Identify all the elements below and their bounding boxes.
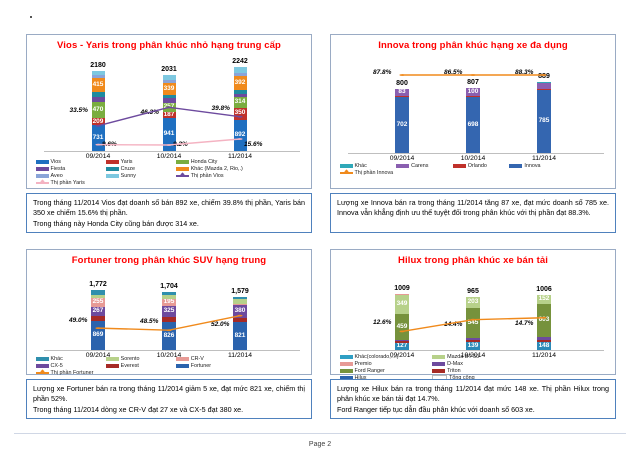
chart-plot-hilux: 127459349100909/201412.6%13954520396510/… xyxy=(331,266,615,368)
bar-segment: 83 xyxy=(395,89,409,96)
legend-label: CR-V xyxy=(191,356,204,362)
legend-color-swatch xyxy=(36,160,49,164)
bar-total-label: 2031 xyxy=(153,66,185,73)
share-percent-label-secondary: 9.6% xyxy=(102,141,117,148)
chart-title-fortuner: Fortuner trong phân khúc SUV hạng trung xyxy=(27,255,311,266)
note-hilux: Lượng xe Hilux bán ra trong tháng 11/201… xyxy=(330,379,616,419)
slide-page: Vios - Yaris trong phân khúc nhỏ hạng tr… xyxy=(0,0,640,452)
note-line: Trong tháng này Honda City cũng bán được… xyxy=(33,219,305,229)
legend-label: Vios xyxy=(51,159,61,165)
bar-segment: 339 xyxy=(163,83,176,95)
legend-line-swatch xyxy=(36,182,49,184)
legend-color-swatch xyxy=(36,357,49,361)
legend-label: Khác (Mazda 2, Rio,.) xyxy=(191,166,243,172)
legend-item[interactable]: CX-5 xyxy=(36,363,102,369)
share-percent-label: 12.6% xyxy=(373,319,391,326)
share-percent-label: 14.4% xyxy=(444,321,462,328)
bar-segment: 869 xyxy=(91,321,105,350)
bar-segment: 821 xyxy=(233,322,247,350)
chart-panel-vios-yaris: Vios - Yaris trong phân khúc nhỏ hạng tr… xyxy=(26,34,312,189)
x-axis-label: 11/2014 xyxy=(526,155,562,162)
chart-title-innova: Innova trong phân khúc hạng xe đa dụng xyxy=(331,40,615,51)
note-line: Lượng xe Hilux bán ra trong tháng 11/201… xyxy=(337,384,609,405)
legend-color-swatch xyxy=(396,164,409,168)
chart-panel-innova: Innova trong phân khúc hạng xe đa dụng 7… xyxy=(330,34,616,189)
legend-color-swatch xyxy=(106,357,119,361)
bar-segment: 545 xyxy=(466,308,480,338)
legend-item[interactable]: Sunny xyxy=(106,173,172,179)
note-line: Trong tháng 11/2014 Vios đạt doanh số bá… xyxy=(33,198,305,219)
share-percent-label: 86.5% xyxy=(444,69,462,76)
bar-total-label: 2242 xyxy=(224,58,256,65)
legend-item[interactable]: Carens xyxy=(396,163,449,169)
bar-segment: 148 xyxy=(537,342,551,350)
bar-segment: 257 xyxy=(163,103,176,112)
chart-legend: KhácCarensOrlandoInnovaThị phần Innova xyxy=(340,163,610,177)
note-line: Lượng xe Innova bán ra trong tháng 11/20… xyxy=(337,198,609,219)
legend-item[interactable]: Khác(colorado,....) xyxy=(340,354,429,360)
legend-label: Thị phần Vios xyxy=(191,173,224,179)
bar-segment: 459 xyxy=(395,314,409,339)
legend-label: Khác(colorado,....) xyxy=(355,354,399,360)
bar-segment: 100 xyxy=(466,88,480,96)
bar-segment: 702 xyxy=(395,97,409,153)
bar-total-label: 1009 xyxy=(386,285,418,292)
note-vios: Trong tháng 11/2014 Vios đạt doanh số bá… xyxy=(26,193,312,233)
bar-segment: 470 xyxy=(92,102,105,118)
chart-axis xyxy=(348,350,604,351)
legend-label: Premio xyxy=(355,361,372,367)
chart-axis xyxy=(348,153,604,154)
footer-divider xyxy=(14,433,626,434)
bar-total-label: 2180 xyxy=(82,62,114,69)
legend-color-swatch xyxy=(106,364,119,368)
legend-label: Orlando xyxy=(468,163,487,169)
bar-stack: 148603152 xyxy=(537,295,551,350)
bar-stack: 139545203 xyxy=(466,297,480,350)
bar-stack: 785 xyxy=(537,82,551,153)
bar-segment: 267 xyxy=(91,307,105,316)
bar-segment: 139 xyxy=(466,342,480,350)
bar-stack: 892350314392 xyxy=(234,67,247,151)
legend-label: Honda City xyxy=(191,159,218,165)
chart-axis xyxy=(44,350,300,351)
share-percent-label: 88.3% xyxy=(515,69,533,76)
legend-item[interactable]: Thị phần Yaris xyxy=(36,180,102,186)
bar-total-label: 1,579 xyxy=(224,288,256,295)
decorative-dot xyxy=(30,16,32,18)
legend-item[interactable]: D-Max xyxy=(432,361,521,367)
legend-line-swatch xyxy=(176,175,189,177)
chart-axis xyxy=(44,151,300,152)
bar-total-label: 1,772 xyxy=(82,281,114,288)
chart-panel-hilux: Hilux trong phân khúc xe bán tải 1274593… xyxy=(330,249,616,375)
bar-segment: 203 xyxy=(466,297,480,308)
legend-color-swatch xyxy=(106,167,119,171)
legend-item[interactable]: Khác xyxy=(340,163,393,169)
legend-label: Innova xyxy=(524,163,540,169)
legend-label: Fiesta xyxy=(51,166,66,172)
page-footer: Page 2 xyxy=(0,441,640,448)
bar-stack: 869267255 xyxy=(91,290,105,350)
legend-item[interactable]: Everest xyxy=(106,363,172,369)
bar-total-label: 1006 xyxy=(528,286,560,293)
legend-item[interactable]: Khác (Mazda 2, Rio,.) xyxy=(176,166,242,172)
legend-item[interactable]: Triton xyxy=(432,368,521,374)
chart-plot-fortuner: 8692672551,77209/201449.0%8263251951,704… xyxy=(27,266,311,368)
x-axis-label: 09/2014 xyxy=(384,155,420,162)
legend-color-swatch xyxy=(36,364,49,368)
legend-label: Cruze xyxy=(121,166,135,172)
share-percent-label: 14.7% xyxy=(515,320,533,327)
chart-plot-innova: 7028380009/201487.8%69810080710/201486.5… xyxy=(331,51,615,182)
legend-item[interactable]: Fortuner xyxy=(176,363,242,369)
legend-label: Fortuner xyxy=(191,363,211,369)
legend-item[interactable]: Yaris xyxy=(106,159,172,165)
legend-color-swatch xyxy=(340,369,353,373)
chart-title-hilux: Hilux trong phân khúc xe bán tải xyxy=(331,255,615,266)
share-percent-label: 49.0% xyxy=(69,317,87,324)
legend-item[interactable]: Innova xyxy=(509,163,562,169)
legend-item[interactable]: Fiesta xyxy=(36,166,102,172)
legend-line-swatch xyxy=(36,372,49,374)
chart-plot-vios-yaris: 731209470415218009/201433.5%9.6%94118725… xyxy=(27,51,311,182)
legend-item[interactable]: Thị phần Innova xyxy=(340,170,393,176)
legend-color-swatch xyxy=(340,164,353,168)
share-percent-label-secondary: 9.2% xyxy=(173,141,188,148)
bar-segment: 314 xyxy=(234,97,247,108)
legend-item[interactable]: CR-V xyxy=(176,356,242,362)
legend-item[interactable]: Cruze xyxy=(106,166,172,172)
bar-segment: 380 xyxy=(233,305,247,318)
bar-segment: 350 xyxy=(234,108,247,120)
legend-label: D-Max xyxy=(447,361,463,367)
legend-color-swatch xyxy=(432,362,445,366)
legend-color-swatch xyxy=(176,364,189,368)
bar-segment: 255 xyxy=(91,298,105,307)
legend-label: Ford Ranger xyxy=(355,368,385,374)
legend-item[interactable]: Honda City xyxy=(176,159,242,165)
legend-color-swatch xyxy=(453,164,466,168)
bar-stack: 731209470415 xyxy=(92,71,105,151)
legend-item[interactable]: Khác xyxy=(36,356,102,362)
legend-color-swatch xyxy=(176,160,189,164)
legend-color-swatch xyxy=(340,362,353,366)
legend-color-swatch xyxy=(340,355,353,359)
bar-segment: 209 xyxy=(92,118,105,125)
legend-color-swatch xyxy=(176,357,189,361)
chart-title-vios-yaris: Vios - Yaris trong phân khúc nhỏ hạng tr… xyxy=(27,40,311,51)
bar-segment: 127 xyxy=(395,343,409,350)
bar-segment: 826 xyxy=(162,322,176,350)
legend-label: Triton xyxy=(447,368,461,374)
legend-item[interactable]: Premio xyxy=(340,361,429,367)
legend-item[interactable]: Orlando xyxy=(453,163,506,169)
bar-segment: 392 xyxy=(234,76,247,90)
bar-segment: 195 xyxy=(162,299,176,306)
legend-item[interactable]: Thị phần Fortuner xyxy=(36,370,102,376)
legend-label: CX-5 xyxy=(51,363,63,369)
legend-label: Mazda BT-50 xyxy=(447,354,479,360)
legend-label: Sorento xyxy=(121,356,140,362)
legend-label: Yaris xyxy=(121,159,133,165)
chart-legend: ViosYarisHonda CityFiestaCruzeKhác (Mazd… xyxy=(36,159,306,187)
legend-item[interactable]: Ford Ranger xyxy=(340,368,429,374)
legend-label: Thị phần Fortuner xyxy=(51,370,94,376)
note-fortuner: Lượng xe Fortuner bán ra trong tháng 11/… xyxy=(26,379,312,419)
legend-color-swatch xyxy=(36,174,49,178)
legend-item[interactable]: Sorento xyxy=(106,356,172,362)
bar-segment: 698 xyxy=(466,97,480,153)
legend-label: Thị phần Yaris xyxy=(51,180,85,186)
bar-segment: 785 xyxy=(537,90,551,153)
bar-total-label: 807 xyxy=(457,79,489,86)
bar-stack: 70283 xyxy=(395,89,409,153)
bar-stack: 826325195 xyxy=(162,292,176,350)
bar-stack: 941187257339 xyxy=(163,75,176,151)
legend-color-swatch xyxy=(106,174,119,178)
x-axis-label: 10/2014 xyxy=(455,155,491,162)
share-percent-label: 48.5% xyxy=(140,318,158,325)
bar-stack: 821380 xyxy=(233,297,247,350)
bar-segment: 325 xyxy=(162,306,176,317)
share-percent-label: 52.0% xyxy=(211,321,229,328)
legend-color-swatch xyxy=(432,355,445,359)
bar-total-label: 1,704 xyxy=(153,283,185,290)
note-line: Trong tháng 11/2014 dòng xe CR-V đạt 27 … xyxy=(33,405,305,415)
legend-label: Everest xyxy=(121,363,139,369)
note-line: Lượng xe Fortuner bán ra trong tháng 11/… xyxy=(33,384,305,405)
bar-stack: 698100 xyxy=(466,88,480,153)
legend-color-swatch xyxy=(106,160,119,164)
legend-label: Sunny xyxy=(121,173,136,179)
legend-label: Khác xyxy=(355,163,367,169)
bar-total-label: 965 xyxy=(457,288,489,295)
legend-item[interactable]: Aveo xyxy=(36,173,102,179)
legend-color-swatch xyxy=(432,369,445,373)
legend-label: Carens xyxy=(411,163,428,169)
bar-stack: 127459349 xyxy=(395,294,409,350)
note-innova: Lượng xe Innova bán ra trong tháng 11/20… xyxy=(330,193,616,233)
share-percent-label: 46.3% xyxy=(141,109,159,116)
legend-color-swatch xyxy=(509,164,522,168)
legend-item[interactable]: Vios xyxy=(36,159,102,165)
legend-color-swatch xyxy=(36,167,49,171)
share-percent-label: 39.8% xyxy=(212,105,230,112)
bar-segment: 152 xyxy=(537,295,551,303)
legend-item[interactable]: Mazda BT-50 xyxy=(432,354,521,360)
chart-legend: KhácSorentoCR-VCX-5EverestFortunerThị ph… xyxy=(36,356,306,377)
legend-color-swatch xyxy=(176,167,189,171)
share-percent-label: 87.8% xyxy=(373,69,391,76)
legend-label: Thị phần Innova xyxy=(355,170,394,176)
legend-line-swatch xyxy=(340,172,353,174)
chart-panel-fortuner: Fortuner trong phân khúc SUV hạng trung … xyxy=(26,249,312,375)
legend-label: Aveo xyxy=(51,173,63,179)
legend-item[interactable]: Thị phần Vios xyxy=(176,173,242,179)
bar-segment: 415 xyxy=(92,78,105,93)
legend-label: Khác xyxy=(51,356,63,362)
bar-total-label: 800 xyxy=(386,80,418,87)
bar-segment: 603 xyxy=(537,304,551,337)
share-percent-label-secondary: 15.6% xyxy=(244,141,262,148)
bar-segment: 349 xyxy=(395,295,409,314)
share-percent-label: 33.5% xyxy=(70,107,88,114)
note-line: Ford Ranger tiếp tục dẫn đầu phân khúc v… xyxy=(337,405,609,415)
